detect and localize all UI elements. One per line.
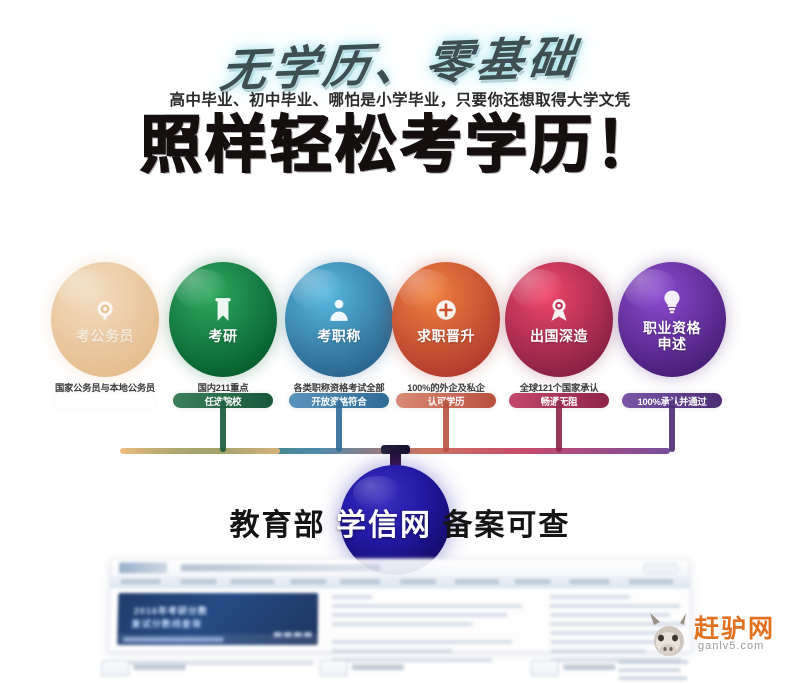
website-screenshot: 2016年考研分数 复试分数线查询	[93, 552, 707, 667]
subtitle: 高中毕业、初中毕业、哪怕是小学毕业，只要你还想取得大学文凭	[0, 88, 800, 110]
connector-bus-fade	[120, 448, 280, 454]
benefit-caption: 国内211重点	[164, 380, 282, 394]
connector-drop-2	[220, 400, 226, 452]
poster-root: 无学历、零基础 高中毕业、初中毕业、哪怕是小学毕业，只要你还想取得大学文凭 照样…	[0, 0, 800, 667]
connector-drop-6	[669, 400, 675, 452]
verification-line: 教育部 学信网 备案可查	[0, 500, 800, 544]
verification-highlight: 学信网	[336, 509, 432, 542]
plus-circle-icon	[433, 295, 459, 325]
screenshot-icon-3	[531, 660, 559, 676]
screenshot-banner-line2: 复试分数线查询	[131, 617, 201, 630]
ribbon-medal-icon	[546, 295, 572, 325]
watermark-url: ganlv5.com	[698, 640, 764, 652]
benefit-bubble[interactable]: 考公务员	[51, 262, 159, 377]
seal-icon	[92, 295, 118, 325]
verification-prefix: 教育部	[230, 509, 326, 542]
benefit-label: 职业资格申述	[643, 321, 701, 352]
screenshot-banner-footer	[117, 634, 318, 645]
benefit-circle-row: 考公务员国家公务员与本地公务员报考无门槛考研国内211重点任选院校考职称各类职称…	[0, 262, 800, 412]
benefit-label: 考职称	[317, 329, 361, 345]
benefit-label: 求职晋升	[417, 329, 475, 345]
connector-drop-5	[556, 400, 562, 452]
benefit-circle-6[interactable]: 职业资格申述100%承认并通过	[613, 262, 731, 377]
screenshot-search-box	[643, 562, 679, 574]
benefit-circle-3[interactable]: 考职称各类职称资格考试全部开放资格符合	[280, 262, 398, 377]
donkey-icon	[646, 611, 692, 659]
benefit-bubble[interactable]: 职业资格申述	[618, 262, 726, 377]
benefit-bubble[interactable]: 考职称	[285, 262, 393, 377]
benefit-circle-4[interactable]: 求职晋升100%的外企及私企认可学历	[387, 262, 505, 377]
lightbulb-icon	[659, 287, 685, 317]
screenshot-navbar	[111, 576, 690, 588]
screenshot-frame: 2016年考研分数 复试分数线查询	[108, 558, 692, 652]
screenshot-column-middle	[332, 595, 533, 667]
person-icon	[326, 295, 352, 325]
benefit-caption: 全球121个国家承认	[500, 380, 618, 394]
screenshot-right-text	[618, 660, 689, 684]
screenshot-topbar	[111, 559, 689, 577]
screenshot-banner: 2016年考研分数 复试分数线查询	[117, 593, 318, 645]
connector-drop-3	[336, 400, 342, 452]
benefit-circle-5[interactable]: 出国深造全球121个国家承认畅通无阻	[500, 262, 618, 377]
screenshot-banner-line1: 2016年考研分数	[134, 604, 208, 617]
screenshot-logo	[119, 562, 167, 573]
benefit-circle-1[interactable]: 考公务员国家公务员与本地公务员报考无门槛	[46, 262, 164, 377]
benefit-bubble[interactable]: 求职晋升	[392, 262, 500, 377]
page-title: 照样轻松考学历！	[0, 113, 800, 180]
benefit-circle-2[interactable]: 考研国内211重点任选院校	[164, 262, 282, 377]
screenshot-banner-dots	[272, 624, 312, 642]
benefit-bubble[interactable]: 考研	[169, 262, 277, 377]
screenshot-icon-2	[319, 660, 347, 676]
benefit-label: 考公务员	[76, 329, 134, 345]
connector-drop-1	[102, 400, 108, 452]
watermark: 赶驴网 ganlv5.com	[644, 607, 794, 663]
bookmark-icon	[210, 295, 236, 325]
calligraphy-title-wrap: 无学历、零基础	[0, 28, 800, 94]
verification-suffix: 备案可查	[442, 509, 570, 542]
benefit-label: 考研	[209, 329, 238, 345]
screenshot-icon-1	[101, 660, 130, 676]
benefit-caption: 100%的外企及私企	[387, 380, 505, 394]
screenshot-icon-row	[93, 660, 707, 680]
benefit-caption: 国家公务员与本地公务员	[46, 380, 164, 394]
benefit-label: 出国深造	[530, 329, 588, 345]
benefit-caption: 各类职称资格考试全部	[280, 380, 398, 394]
benefit-bubble[interactable]: 出国深造	[505, 262, 613, 377]
screenshot-nav-text	[181, 564, 380, 571]
connector-drop-4	[443, 400, 449, 452]
